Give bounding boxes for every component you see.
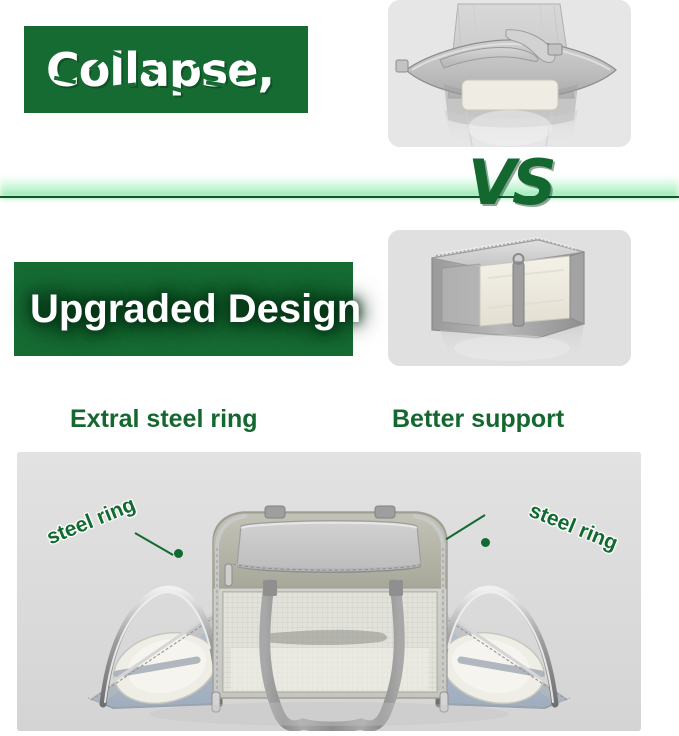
photo-expanded-carrier: [17, 452, 641, 731]
photo-collapsed-carrier: [388, 0, 631, 147]
expanded-carrier-illustration: [17, 452, 641, 731]
collapsed-carrier-illustration: [388, 0, 631, 147]
upgraded-carrier-illustration: [388, 230, 631, 366]
banner-collapse: Collapse,: [24, 26, 308, 113]
banner-collapse-label: Collapse,: [46, 47, 274, 93]
feature-caption-steel-ring: Extral steel ring: [70, 405, 258, 434]
photo-upgraded-carrier: [388, 230, 631, 366]
divider-line: [0, 196, 679, 198]
divider-glow: [0, 176, 679, 198]
feature-caption-better-support: Better support: [392, 405, 564, 434]
banner-upgraded-label: Upgraded Design: [30, 289, 361, 329]
vs-label: VS: [468, 152, 553, 214]
banner-upgraded-design: Upgraded Design: [14, 262, 353, 356]
infographic-canvas: Collapse,: [0, 0, 679, 736]
